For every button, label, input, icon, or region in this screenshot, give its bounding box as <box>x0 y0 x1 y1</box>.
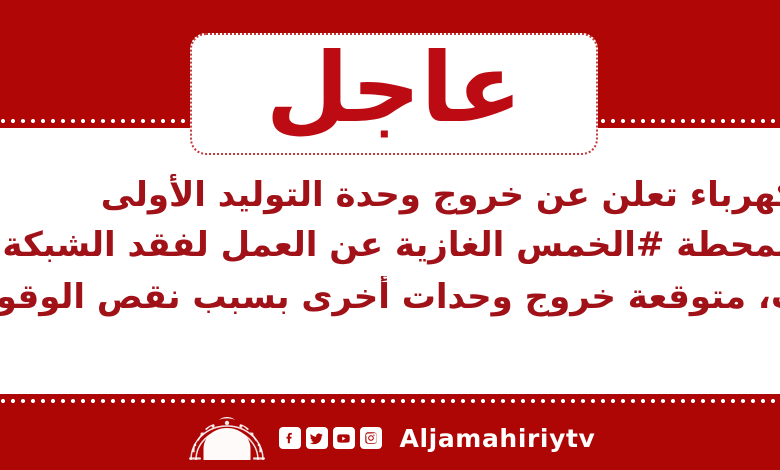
youtube-icon[interactable] <box>333 427 355 449</box>
instagram-icon[interactable] <box>360 427 382 449</box>
urgent-badge-label: عاجل <box>266 40 523 136</box>
social-links <box>279 427 382 449</box>
footer-dotted-divider <box>0 398 780 404</box>
footer-brand-row: Aljamahiriytv <box>0 406 780 470</box>
broadcast-lower-third-graphic: عاجل الشركة العامة للكهرباء تعلن عن خروج… <box>0 0 780 470</box>
urgent-badge: عاجل <box>190 33 598 155</box>
news-line-3: ميجاوات، متوقعة خروج وحدات أخرى بسبب نقص… <box>0 276 780 319</box>
brand-name: Aljamahiriytv <box>400 424 596 453</box>
breaking-news-body: الشركة العامة للكهرباء تعلن عن خروج وحدة… <box>0 160 780 394</box>
news-line-1: الشركة العامة للكهرباء تعلن عن خروج وحدة… <box>0 174 780 217</box>
twitter-icon[interactable] <box>306 427 328 449</box>
footer-band: Aljamahiriytv <box>0 394 780 470</box>
news-line-2: بمحطة #الخمس الغازية عن العمل لفقد الشبك… <box>0 224 780 267</box>
aljamahiriya-arch-logo <box>185 414 269 462</box>
facebook-icon[interactable] <box>279 427 301 449</box>
